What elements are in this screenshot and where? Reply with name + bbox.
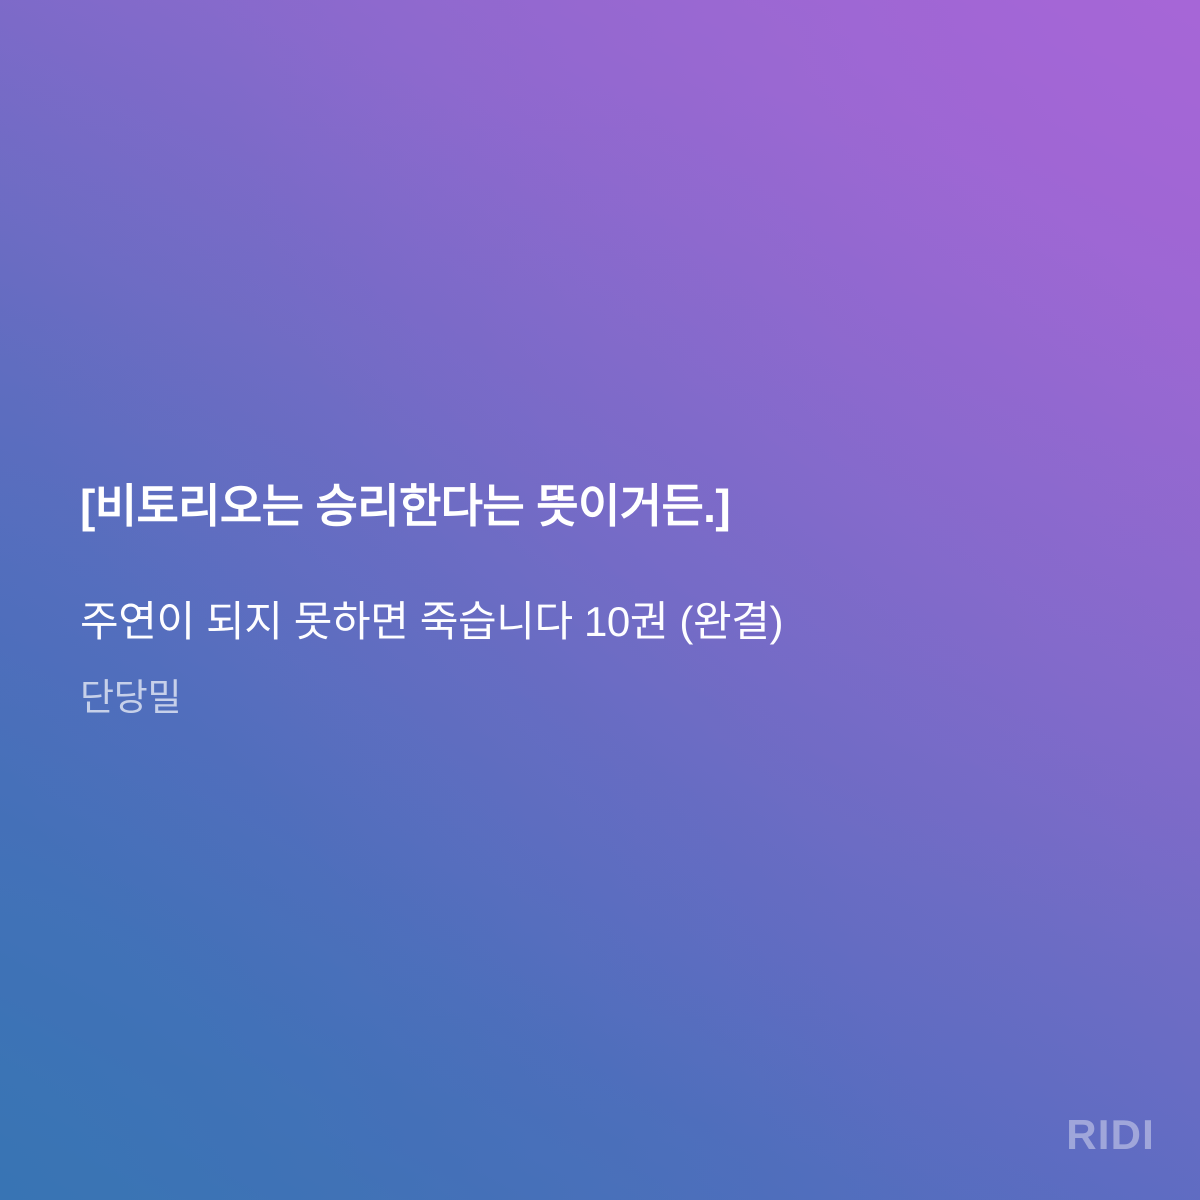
ebook-promo-card: [비토리오는 승리한다는 뜻이거든.] 주연이 되지 못하면 죽습니다 10권 …	[0, 0, 1200, 1200]
book-author: 단당밀	[80, 648, 1120, 720]
book-title: 주연이 되지 못하면 죽습니다 10권 (완결)	[80, 534, 1120, 648]
ridi-logo: RIDI	[1066, 1114, 1155, 1156]
quote-text: [비토리오는 승리한다는 뜻이거든.]	[80, 478, 1120, 534]
text-block: [비토리오는 승리한다는 뜻이거든.] 주연이 되지 못하면 죽습니다 10권 …	[80, 478, 1120, 721]
